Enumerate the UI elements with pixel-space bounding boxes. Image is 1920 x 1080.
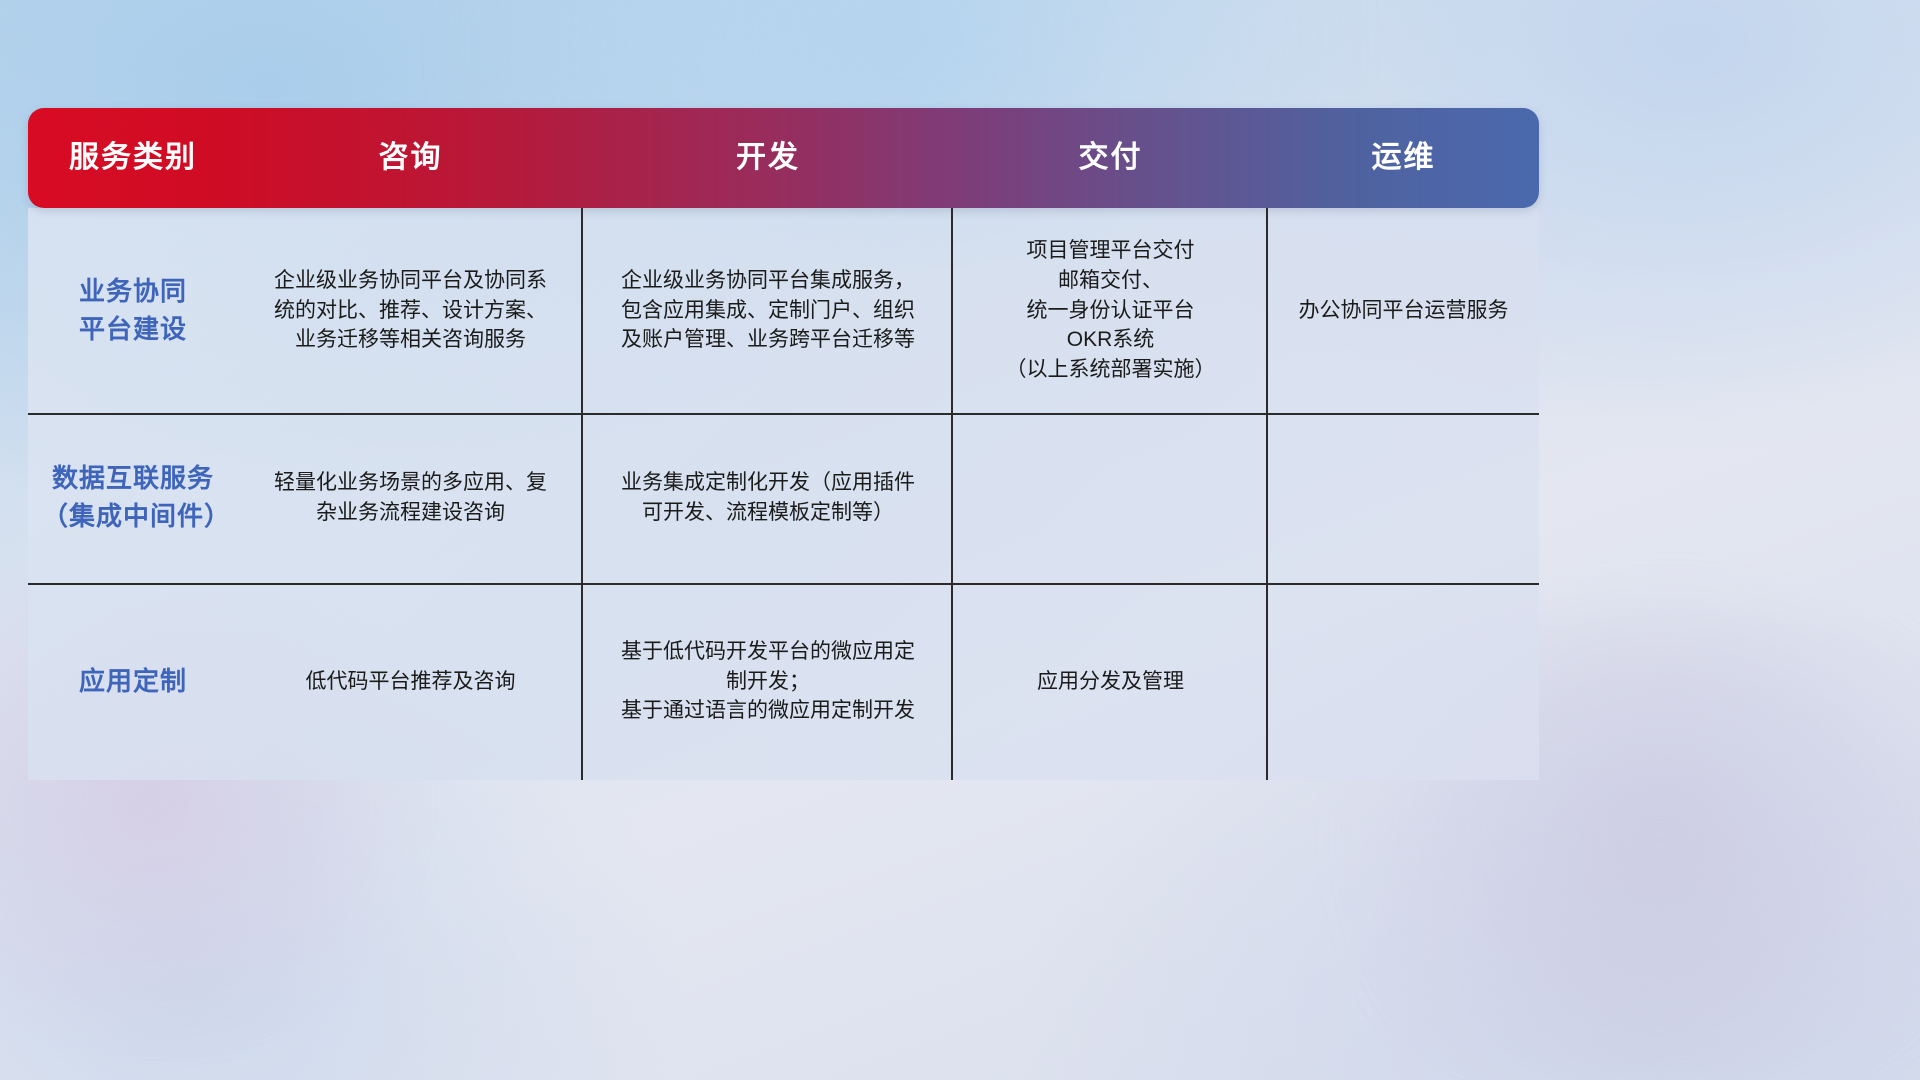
cell-consulting: 轻量化业务场景的多应用、复 杂业务流程建设咨询 (238, 413, 583, 583)
cell-delivery: 项目管理平台交付 邮箱交付、 统一身份认证平台 OKR系统 （以上系统部署实施） (953, 208, 1268, 413)
cell-delivery (953, 413, 1268, 583)
service-matrix-table: 服务类别 咨询 开发 交付 运维 业务协同 平台建设 企业级业务协同平台及协同系… (28, 108, 1539, 780)
row-category-label: 应用定制 (28, 583, 238, 780)
table-row: 数据互联服务 （集成中间件） 轻量化业务场景的多应用、复 杂业务流程建设咨询 业… (28, 413, 1539, 583)
column-header-delivery: 交付 (953, 143, 1268, 173)
row-category-label: 数据互联服务 （集成中间件） (28, 413, 238, 583)
column-header-operations: 运维 (1268, 143, 1539, 173)
cell-consulting: 企业级业务协同平台及协同系 统的对比、推荐、设计方案、 业务迁移等相关咨询服务 (238, 208, 583, 413)
cell-operations (1268, 413, 1539, 583)
cell-delivery: 应用分发及管理 (953, 583, 1268, 780)
cell-development: 企业级业务协同平台集成服务， 包含应用集成、定制门户、组织 及账户管理、业务跨平… (583, 208, 953, 413)
column-header-consulting: 咨询 (238, 143, 583, 173)
row-category-label: 业务协同 平台建设 (28, 208, 238, 413)
cell-operations (1268, 583, 1539, 780)
cell-development: 业务集成定制化开发（应用插件 可开发、流程模板定制等） (583, 413, 953, 583)
table-row: 应用定制 低代码平台推荐及咨询 基于低代码开发平台的微应用定 制开发； 基于通过… (28, 583, 1539, 780)
table-header-row: 服务类别 咨询 开发 交付 运维 (28, 108, 1539, 208)
cell-operations: 办公协同平台运营服务 (1268, 208, 1539, 413)
table-body: 业务协同 平台建设 企业级业务协同平台及协同系 统的对比、推荐、设计方案、 业务… (28, 208, 1539, 780)
column-header-development: 开发 (583, 143, 953, 173)
cell-consulting: 低代码平台推荐及咨询 (238, 583, 583, 780)
column-header-category: 服务类别 (28, 143, 238, 173)
cell-development: 基于低代码开发平台的微应用定 制开发； 基于通过语言的微应用定制开发 (583, 583, 953, 780)
table-row: 业务协同 平台建设 企业级业务协同平台及协同系 统的对比、推荐、设计方案、 业务… (28, 208, 1539, 413)
